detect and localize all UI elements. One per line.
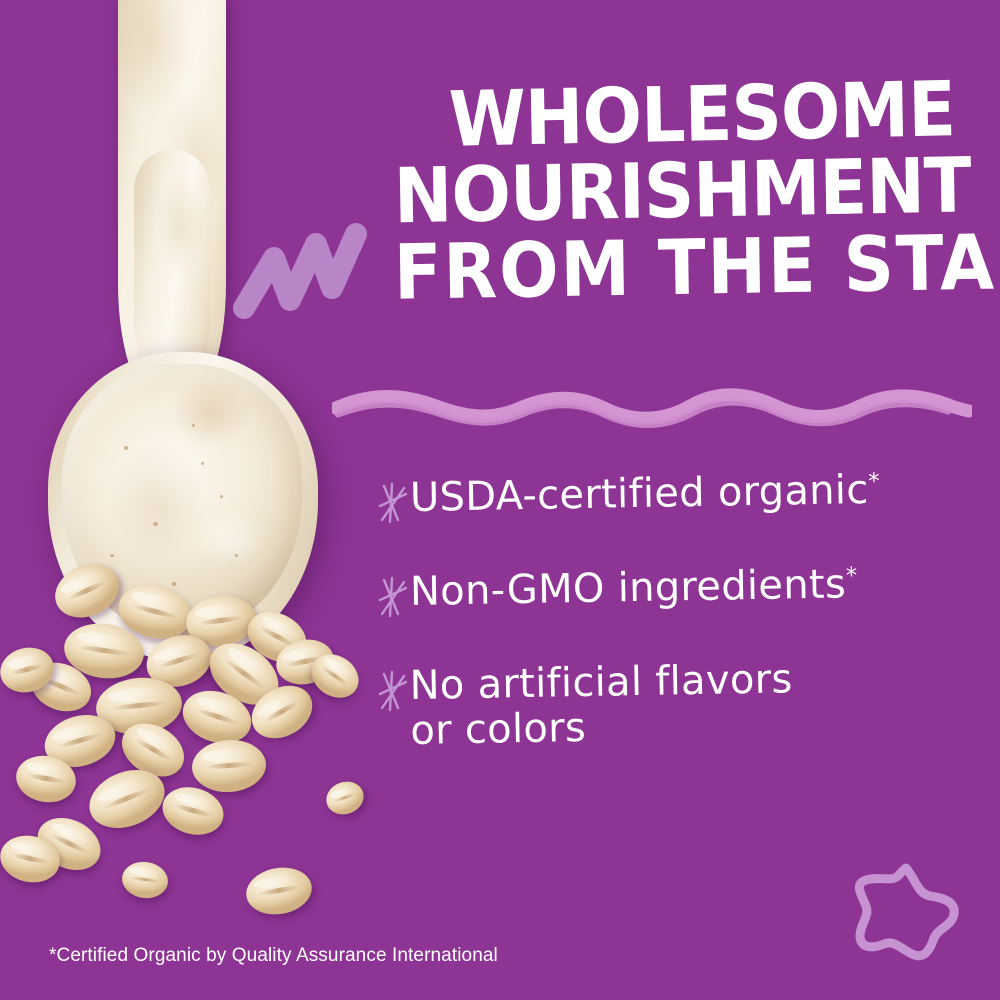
benefit-label-line2: or colors bbox=[410, 705, 586, 754]
benefit-superscript: * bbox=[846, 563, 858, 589]
headline-line-3: FROM THE START bbox=[393, 226, 955, 310]
benefit-item: No artificial flavors or colors bbox=[378, 664, 958, 754]
benefit-list: USDA-certified organic* Non-GMO ingredie… bbox=[378, 476, 958, 800]
spoon-neck bbox=[134, 150, 210, 400]
benefit-label: USDA-certified organic bbox=[410, 467, 869, 521]
product-banner: WHOLESOME NOURISHMENT FROM THE START USD… bbox=[0, 0, 1000, 1000]
zigzag-squiggle-doodle bbox=[232, 196, 382, 326]
benefit-label: No artificial flavors bbox=[409, 656, 793, 709]
spoon-puree bbox=[62, 364, 302, 636]
sparkle-star-icon bbox=[378, 668, 408, 712]
benefit-superscript: * bbox=[868, 468, 880, 494]
benefit-text: No artificial flavors or colors bbox=[409, 657, 793, 753]
sparkle-star-icon bbox=[378, 480, 408, 524]
spoon-bowl bbox=[48, 352, 318, 662]
benefit-text: USDA-certified organic* bbox=[410, 468, 881, 521]
benefit-item: Non-GMO ingredients* bbox=[378, 570, 958, 618]
sparkle-star-icon bbox=[378, 574, 408, 618]
headline: WHOLESOME NOURISHMENT FROM THE START bbox=[394, 78, 955, 305]
benefit-text: Non-GMO ingredients* bbox=[410, 562, 858, 615]
footnote: *Certified Organic by Quality Assurance … bbox=[49, 945, 498, 967]
benefit-label: Non-GMO ingredients bbox=[410, 561, 847, 615]
hand-drawn-star-doodle bbox=[838, 858, 968, 978]
benefit-item: USDA-certified organic* bbox=[378, 476, 958, 524]
wavy-brush-divider bbox=[332, 382, 972, 432]
spoon-handle bbox=[118, 0, 226, 410]
